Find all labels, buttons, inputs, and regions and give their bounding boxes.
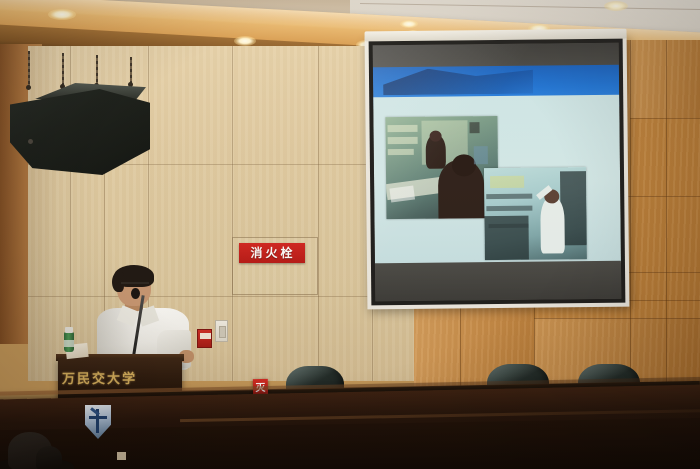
ceiling-spotlight [400,20,418,28]
wall-right-seam [630,118,700,119]
ceiling-loudspeaker [10,83,150,178]
ceiling-spotlight [48,9,76,20]
microphone-icon [131,288,140,299]
wall-right-seam [628,272,700,273]
wall-right-seam [666,40,667,388]
podium-char-5: 学 [122,373,135,386]
speaker-chain [96,55,98,85]
speaker-front-grille [10,89,150,175]
desk-light-reflection [117,452,126,460]
hydrant-char-2: 火 [265,247,278,259]
fire-hydrant-sign: 消 火 栓 [239,243,305,263]
university-shield-emblem [85,405,111,439]
water-bottle-label [64,340,74,347]
emblem-mark [89,416,107,419]
speaker-chain [28,51,30,89]
lecture-hall-photo: 消 火 栓 万 民 交 大 学 [0,0,700,469]
ceiling-spotlight [604,1,628,11]
wall-seam [318,46,319,381]
wall-seam [232,46,233,381]
screen-glare [373,43,622,302]
speaker-chain [62,53,64,87]
wall-seam [28,296,420,297]
light-switch[interactable] [215,320,228,342]
wall-right-seam [534,318,700,319]
hydrant-char-1: 消 [250,247,263,259]
wall-right-seam [620,196,700,197]
speaker-mount-bolt [26,85,31,90]
wall-right-seam [630,40,631,388]
fire-alarm-label-plate [200,333,211,339]
podium-char-3: 交 [92,373,105,386]
screen-surface [373,43,622,302]
light-switch-rocker[interactable] [219,326,226,338]
hydrant-char-3: 栓 [281,247,294,259]
projection-screen[interactable] [365,35,630,310]
podium-char-1: 万 [62,373,75,386]
wall-right-seam [460,300,461,388]
presenter [95,268,191,368]
wall-right-block [630,40,700,118]
podium-char-4: 大 [107,373,120,386]
fire-alarm-icon[interactable] [197,329,212,348]
ceiling-spotlight [234,36,256,46]
speaker-badge [28,139,33,144]
speaker-chain [130,57,132,85]
podium-char-2: 民 [77,373,90,386]
water-bottle-cap [65,327,73,333]
audience-member-head [36,446,62,469]
